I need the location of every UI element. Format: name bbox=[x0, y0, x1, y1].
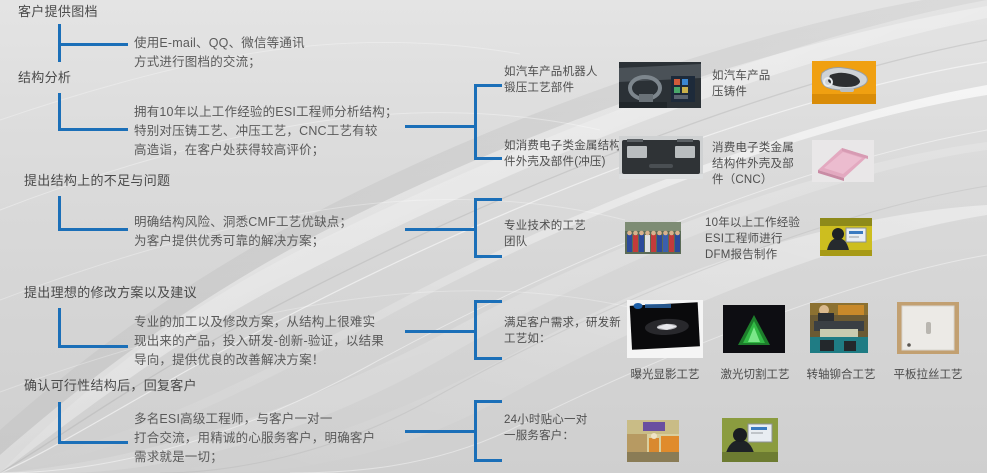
step-body-1: 使用E-mail、QQ、微信等通讯 方式进行图档的交流； bbox=[134, 34, 305, 72]
connector-step-4-vertical bbox=[58, 308, 61, 348]
bracket-team-arm-bottom bbox=[474, 255, 502, 258]
step-body-3: 明确结构风险、洞悉CMF工艺优缺点； 为客户提供优秀可靠的解决方案； bbox=[134, 213, 352, 251]
thumb-car-dashboard bbox=[619, 62, 701, 108]
connector-step-4-arm bbox=[58, 345, 128, 348]
step-title-2: 结构分析 bbox=[18, 70, 71, 86]
connector-step-1-arm bbox=[58, 43, 128, 46]
step-title-5: 确认可行性结构后，回复客户 bbox=[24, 378, 197, 394]
step-body-5: 多名ESI高级工程师，与客户一对一 打合交流，用精诚的心服务客户，明确客户 需求… bbox=[134, 410, 375, 467]
connector-step-2-arm bbox=[58, 128, 128, 131]
label-structure-row1-a: 如汽车产品机器人 锻压工艺部件 bbox=[504, 64, 598, 96]
caption-newtech-2: 转轴铆合工艺 bbox=[795, 368, 887, 383]
connector-step-3-to-group bbox=[405, 228, 475, 231]
connector-step-5-to-group bbox=[405, 430, 475, 433]
thumb-customer-service-desk bbox=[722, 418, 778, 462]
connector-step-3-vertical bbox=[58, 196, 61, 231]
bracket-service-spine bbox=[474, 400, 477, 462]
thumb-black-display-panel bbox=[627, 300, 703, 358]
thumb-laptop-metal-housing bbox=[619, 136, 703, 179]
bracket-service-arm-top bbox=[474, 400, 502, 403]
label-structure-row2-a: 如消费电子类金属结构 件外壳及部件(冲压) bbox=[504, 138, 621, 170]
label-structure-row2-b: 消费电子类金属 结构件外壳及部 件（CNC） bbox=[712, 140, 794, 188]
step-body-4: 专业的加工以及修改方案，从结构上很难实 现出来的产品，投入研发-创新-验证，以结… bbox=[134, 313, 384, 370]
thumb-pink-laptop bbox=[812, 140, 874, 182]
connector-step-3-arm bbox=[58, 228, 128, 231]
thumb-brushed-flat-panel bbox=[897, 302, 959, 354]
bracket-newtech-arm-top bbox=[474, 300, 502, 303]
thumb-office-reception bbox=[627, 420, 679, 462]
label-service: 24小时贴心一对 一服务客户： bbox=[504, 412, 587, 444]
thumb-team-group-photo bbox=[625, 222, 681, 254]
connector-step-4-to-group bbox=[405, 330, 475, 333]
thumb-riveting-machine bbox=[810, 303, 868, 353]
bracket-structure-spine bbox=[474, 84, 477, 160]
thumb-green-laser-cut bbox=[723, 305, 785, 353]
step-body-2: 拥有10年以上工作经验的ESI工程师分析结构； 特别对压铸工艺、冲压工艺，CNC… bbox=[134, 103, 398, 160]
bracket-team-spine bbox=[474, 198, 477, 258]
connector-step-5-arm bbox=[58, 441, 128, 444]
thumb-engineer-workstation bbox=[820, 218, 872, 256]
label-newtech: 满足客户需求，研发新 工艺如： bbox=[504, 315, 621, 347]
slide-canvas: 客户提供图档 使用E-mail、QQ、微信等通讯 方式进行图档的交流； 结构分析… bbox=[0, 0, 987, 473]
thumb-orange-die-casting bbox=[812, 61, 876, 104]
step-title-1: 客户提供图档 bbox=[18, 4, 98, 20]
bracket-structure-arm-top bbox=[474, 84, 502, 87]
caption-newtech-1: 激光切割工艺 bbox=[705, 368, 805, 383]
step-title-3: 提出结构上的不足与问题 bbox=[24, 173, 170, 189]
connector-step-2-to-group bbox=[405, 125, 475, 128]
label-team-a: 专业技术的工艺 团队 bbox=[504, 218, 586, 250]
step-title-4: 提出理想的修改方案以及建议 bbox=[24, 285, 197, 301]
label-team-b: 10年以上工作经验 ESI工程师进行 DFM报告制作 bbox=[705, 215, 800, 263]
caption-newtech-3: 平板拉丝工艺 bbox=[882, 368, 974, 383]
bracket-newtech-arm-bottom bbox=[474, 357, 502, 360]
bracket-newtech-spine bbox=[474, 300, 477, 360]
label-structure-row1-b: 如汽车产品 压铸件 bbox=[712, 68, 771, 100]
connector-step-5-vertical bbox=[58, 402, 61, 444]
bracket-structure-arm-bottom bbox=[474, 157, 502, 160]
connector-step-2-vertical bbox=[58, 93, 61, 131]
bracket-team-arm-top bbox=[474, 198, 502, 201]
bracket-service-arm-bottom bbox=[474, 459, 502, 462]
